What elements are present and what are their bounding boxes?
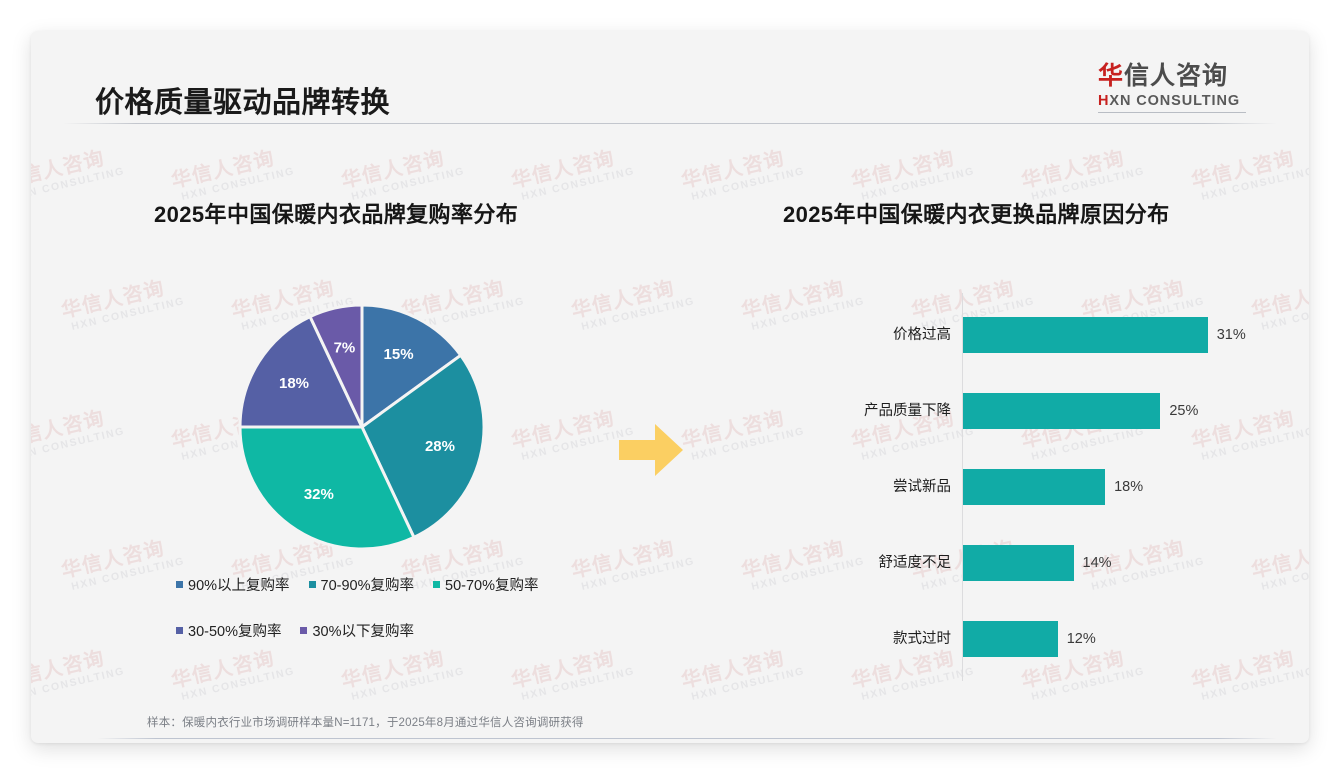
logo-underline (1098, 112, 1246, 113)
bar-fill (963, 317, 1208, 353)
watermark-text: 华信人咨询HXN CONSULTING (1188, 138, 1309, 204)
legend-label: 30%以下复购率 (312, 620, 414, 641)
logo-english-red: H (1098, 93, 1109, 109)
pie-slice-label: 15% (384, 346, 414, 363)
watermark-text: 华信人咨询HXN CONSULTING (1018, 138, 1146, 204)
bar-category-label: 舒适度不足 (771, 545, 951, 581)
pie-slice-label: 28% (425, 438, 455, 455)
legend-swatch-icon (433, 581, 440, 588)
watermark-text: 华信人咨询HXN CONSULTING (848, 138, 976, 204)
bar-row: 价格过高31% (831, 317, 1271, 353)
logo-chinese-red: 华 (1098, 62, 1124, 90)
bar-value-label: 12% (1067, 621, 1096, 657)
logo-english-rest: XN CONSULTING (1109, 93, 1240, 109)
legend-swatch-icon (300, 627, 307, 634)
page-title: 价格质量驱动品牌转换 (95, 79, 390, 121)
bar-row: 舒适度不足14% (831, 545, 1271, 581)
bar-fill (963, 393, 1160, 429)
watermark-text: 华信人咨询HXN CONSULTING (31, 398, 126, 464)
bar-value-label: 31% (1217, 317, 1246, 353)
bar-value-label: 14% (1083, 545, 1112, 581)
legend-item[interactable]: 30%以下复购率 (300, 620, 414, 641)
watermark-text: 华信人咨询HXN CONSULTING (31, 638, 126, 704)
pie-legend: 90%以上复购率70-90%复购率50-70%复购率30-50%复购率30%以下… (176, 574, 596, 666)
sample-note: 样本：保暖内衣行业市场调研样本量N=1171，于2025年8月通过华信人咨询调研… (147, 714, 584, 730)
right-chart-title: 2025年中国保暖内衣更换品牌原因分布 (783, 197, 1170, 229)
bar-value-label: 18% (1114, 469, 1143, 505)
bar-fill (963, 545, 1074, 581)
pie-chart-svg: 15%28%32%18%7% (226, 302, 498, 552)
left-chart-title: 2025年中国保暖内衣品牌复购率分布 (154, 197, 518, 229)
legend-label: 30-50%复购率 (188, 620, 281, 641)
logo-chinese: 华信人咨询 (1098, 63, 1246, 91)
watermark-text: 华信人咨询HXN CONSULTING (338, 138, 466, 204)
bar-category-label: 款式过时 (771, 621, 951, 657)
legend-label: 70-90%复购率 (321, 574, 414, 595)
pie-slice-label: 18% (279, 375, 309, 392)
watermark-text: 华信人咨询HXN CONSULTING (58, 268, 186, 334)
legend-item[interactable]: 90%以上复购率 (176, 574, 290, 595)
legend-label: 50-70%复购率 (445, 574, 538, 595)
right-arrow-icon (615, 414, 687, 491)
bar-fill (963, 621, 1058, 657)
pie-slice-label: 7% (334, 339, 356, 356)
legend-swatch-icon (309, 581, 316, 588)
legend-label: 90%以上复购率 (188, 574, 290, 595)
company-logo: 华信人咨询 HXN CONSULTING (1098, 63, 1246, 113)
legend-swatch-icon (176, 627, 183, 634)
logo-english: HXN CONSULTING (1098, 93, 1246, 109)
slide-footer: ©2025.10 HXR华信人咨询 www.hxrcon.com (31, 739, 1309, 743)
pie-slice-label: 32% (304, 486, 334, 503)
bar-row: 尝试新品18% (831, 469, 1271, 505)
legend-row: 30-50%复购率30%以下复购率 (176, 620, 596, 641)
bar-category-label: 价格过高 (771, 317, 951, 353)
bar-row: 产品质量下降25% (831, 393, 1271, 429)
slide-header: 价格质量驱动品牌转换 华信人咨询 HXN CONSULTING (31, 31, 1309, 117)
legend-item[interactable]: 50-70%复购率 (433, 574, 538, 595)
legend-swatch-icon (176, 581, 183, 588)
legend-item[interactable]: 30-50%复购率 (176, 620, 281, 641)
watermark-text: 华信人咨询HXN CONSULTING (58, 528, 186, 594)
watermark-text: 华信人咨询HXN CONSULTING (568, 268, 696, 334)
bar-category-label: 尝试新品 (771, 469, 951, 505)
watermark-text: 华信人咨询HXN CONSULTING (678, 138, 806, 204)
logo-chinese-rest: 信人咨询 (1124, 62, 1228, 90)
slide-card: 华信人咨询HXN CONSULTING华信人咨询HXN CONSULTING华信… (31, 31, 1309, 743)
header-divider (63, 123, 1277, 124)
bar-row: 款式过时12% (831, 621, 1271, 657)
watermark-text: 华信人咨询HXN CONSULTING (508, 138, 636, 204)
bar-fill (963, 469, 1105, 505)
watermark-text: 华信人咨询HXN CONSULTING (168, 138, 296, 204)
pie-chart: 15%28%32%18%7% (226, 302, 498, 552)
legend-row: 90%以上复购率70-90%复购率50-70%复购率 (176, 574, 596, 595)
bar-category-label: 产品质量下降 (771, 393, 951, 429)
bar-value-label: 25% (1169, 393, 1198, 429)
watermark-text: 华信人咨询HXN CONSULTING (31, 138, 126, 204)
bar-chart: 价格过高31%产品质量下降25%尝试新品18%舒适度不足14%款式过时12% (831, 293, 1271, 683)
legend-item[interactable]: 70-90%复购率 (309, 574, 414, 595)
